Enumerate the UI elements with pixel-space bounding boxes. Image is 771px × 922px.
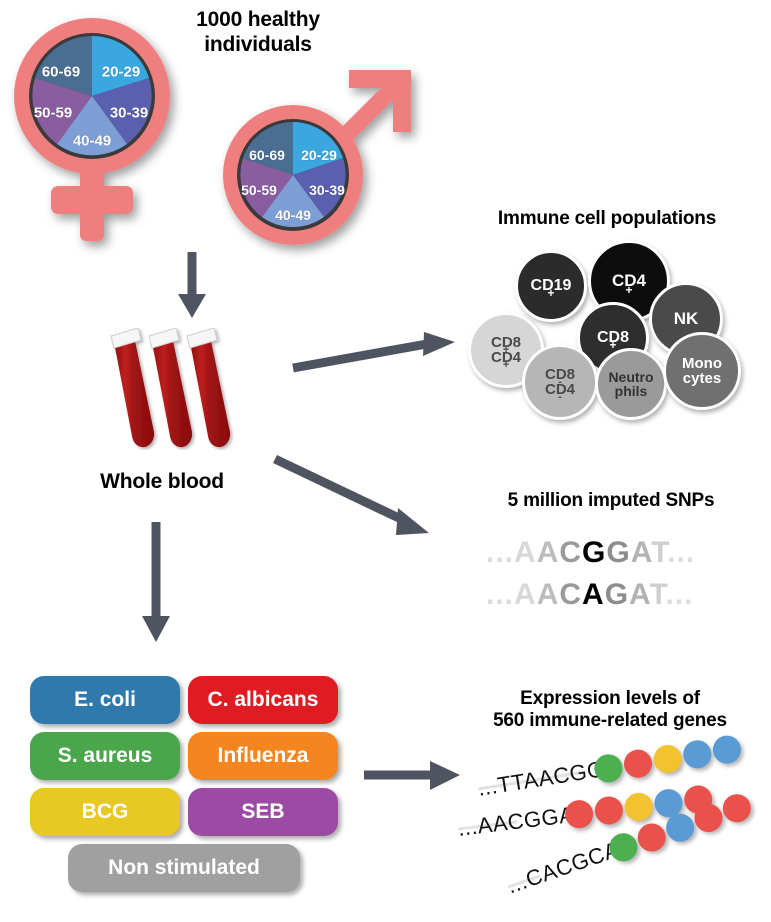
snps-title: 5 million imputed SNPs — [466, 490, 756, 512]
snp-highlight-base-1: G — [582, 536, 606, 569]
stimulus-label: Influenza — [217, 744, 308, 768]
immune-cell-neutrophils: Neutro phils — [595, 348, 667, 420]
cell-label-line1: CD19+ — [531, 278, 572, 294]
snp-suffix-dots: ... — [666, 578, 694, 611]
snp-prefix-dots: ... — [486, 578, 514, 611]
male-symbol: 20-29 30-39 40-49 50-59 60-69 — [205, 62, 425, 262]
cell-label-line1: CD4+ — [612, 272, 646, 289]
whole-blood-label: Whole blood — [72, 470, 252, 495]
expression-heading: Expression levels of 560 immune-related … — [452, 688, 768, 733]
tube-3 — [187, 328, 230, 447]
snp-prefix-dots: ... — [486, 536, 514, 569]
male-age-pie — [240, 122, 345, 227]
cell-label-line1: NK — [674, 310, 699, 327]
cell-label-line2: cytes — [682, 371, 722, 386]
stimulus-label: S. aureus — [58, 744, 153, 768]
figure-canvas: 1000 healthy individuals — [0, 0, 771, 922]
female-symbol: 20-29 30-39 40-49 50-59 60-69 — [8, 8, 198, 248]
tube-1 — [111, 328, 154, 447]
stimulus-bcg[interactable]: BCG — [30, 788, 180, 836]
stimulus-influenza[interactable]: Influenza — [188, 732, 338, 780]
immune-cell-cd19: CD19+ — [515, 250, 587, 322]
cell-label-line1: Mono — [682, 356, 722, 371]
stimulus-c-albicans[interactable]: C. albicans — [188, 676, 338, 724]
stimulus-label: C. albicans — [208, 688, 319, 712]
dna-bead — [691, 800, 727, 836]
stimulus-seb[interactable]: SEB — [188, 788, 338, 836]
dna-bead — [593, 795, 624, 826]
dna-bead — [623, 791, 654, 822]
cell-label-line1: CD8- — [545, 367, 575, 382]
dna-bead — [719, 790, 755, 826]
cell-label-line1: Neutro — [608, 370, 653, 384]
arrow-stimuli-to-expression — [364, 761, 460, 790]
expression-heading-line2: 560 immune-related genes — [452, 710, 768, 732]
snp-allele-row-1: ...AACGGAT... — [486, 536, 695, 570]
cell-label-line2: phils — [608, 384, 653, 398]
stimulus-s-aureus[interactable]: S. aureus — [30, 732, 180, 780]
dna-bead — [662, 810, 698, 846]
dna-bead — [681, 738, 713, 770]
immune-cell-cd8n-cd4n: CD8- CD4- — [522, 344, 598, 420]
blood-tubes — [108, 328, 238, 450]
arrow-blood-to-stimuli — [142, 522, 170, 642]
stimulus-label: E. coli — [74, 688, 136, 712]
cell-label-line1: CD8+ — [491, 335, 521, 350]
cell-label-line1: CD8+ — [597, 330, 629, 346]
immune-title: Immune cell populations — [452, 208, 762, 230]
snp-suffix-dots: ... — [667, 536, 695, 569]
stimulus-label: SEB — [241, 800, 284, 824]
arrow-blood-to-immune — [293, 332, 455, 368]
dna-bead — [652, 743, 684, 775]
expression-heading-line1: Expression levels of — [452, 688, 768, 710]
stimulus-non-stimulated[interactable]: Non stimulated — [68, 844, 300, 892]
dna-bead — [622, 748, 654, 780]
cell-label-line2: CD4+ — [491, 350, 521, 365]
stimulus-label: Non stimulated — [108, 856, 260, 880]
stimulus-label: BCG — [82, 800, 129, 824]
dna-bead — [711, 734, 743, 766]
snp-allele-row-2: ...AACAGAT... — [486, 578, 694, 612]
stimuli-panel: E. coli C. albicans S. aureus Influenza … — [30, 676, 350, 896]
snp-highlight-base-2: A — [582, 578, 605, 611]
immune-cell-cluster: CD8+ CD4+ CD19+ CD4+ NK CD8+ CD8- CD4- N… — [464, 240, 764, 420]
dna-strand-group: ...TTAACGG ...AACGGAT ...CACGCAA — [460, 740, 771, 915]
arrow-cohort-to-blood — [178, 252, 206, 318]
cell-label-line2: CD4- — [545, 382, 575, 397]
immune-cell-monocytes: Mono cytes — [663, 332, 741, 410]
tube-2 — [149, 328, 192, 447]
dna-bead — [634, 820, 670, 856]
stimulus-e-coli[interactable]: E. coli — [30, 676, 180, 724]
arrow-blood-to-snps — [275, 459, 429, 535]
female-age-pie — [32, 36, 151, 155]
